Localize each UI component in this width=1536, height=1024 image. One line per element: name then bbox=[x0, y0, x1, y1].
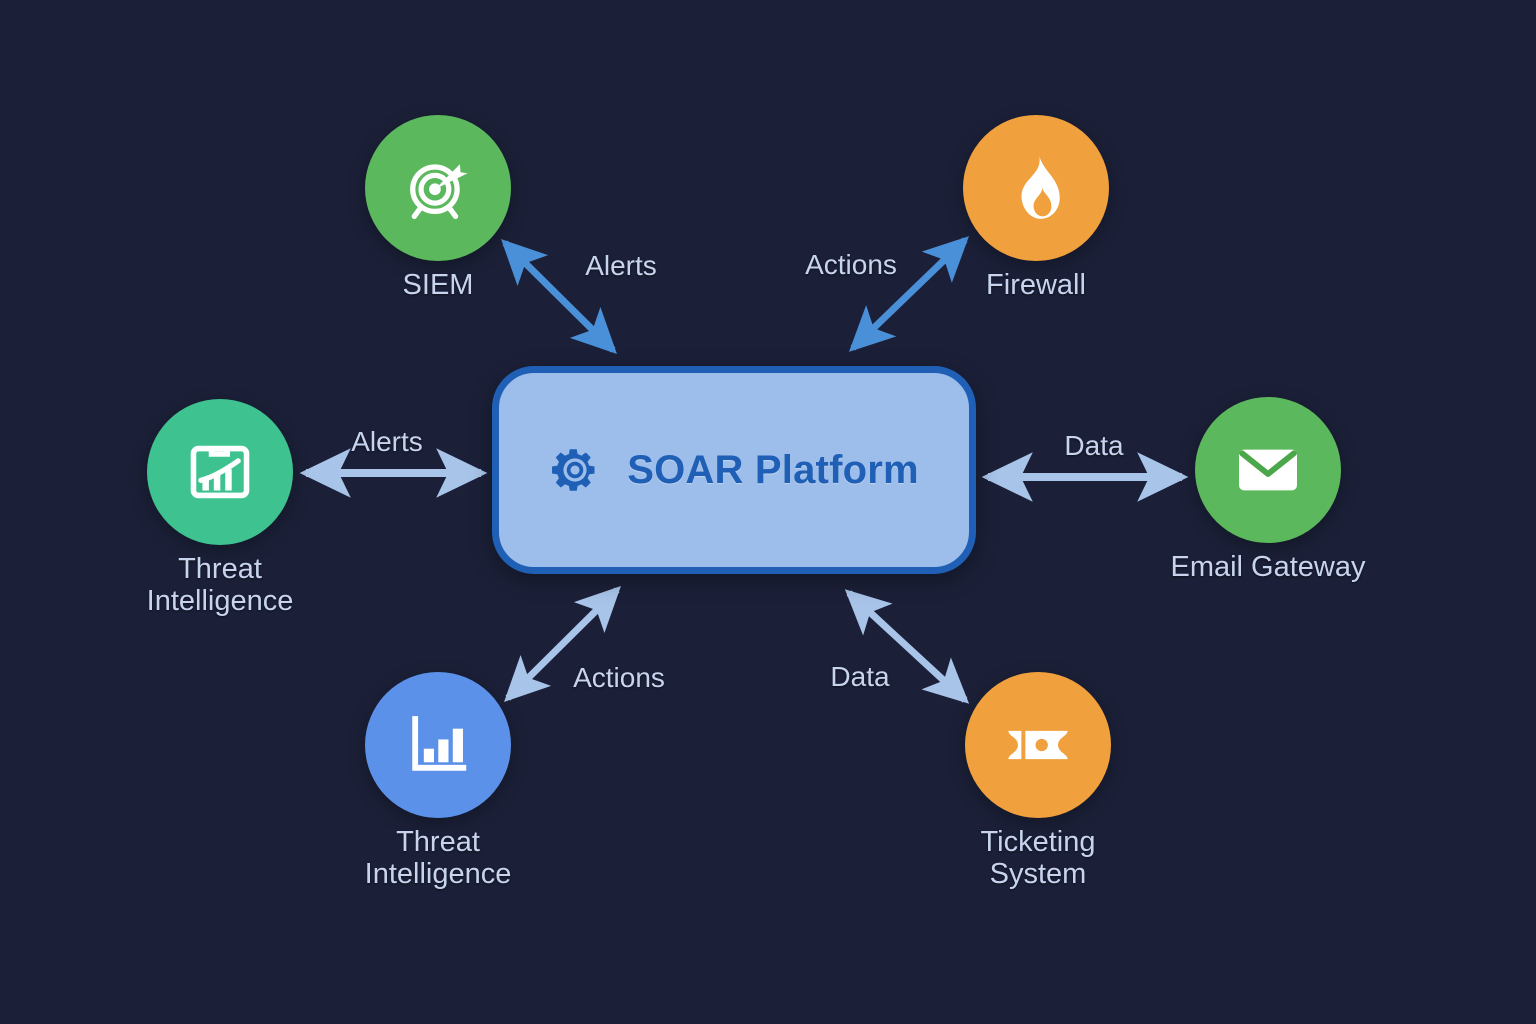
growth-chart-icon bbox=[183, 435, 257, 509]
soar-platform-node[interactable]: SOAR Platform bbox=[492, 366, 976, 574]
node-threat-intelligence-bottom[interactable]: Threat Intelligence bbox=[288, 672, 588, 891]
edge-label-firewall: Actions bbox=[805, 249, 897, 281]
ticket-icon bbox=[1001, 708, 1075, 782]
node-siem-circle[interactable] bbox=[365, 115, 511, 261]
node-threat-intelligence-bottom-label: Threat Intelligence bbox=[365, 826, 512, 891]
node-firewall-label: Firewall bbox=[986, 269, 1086, 301]
node-siem-label: SIEM bbox=[403, 269, 474, 301]
edge-label-siem: Alerts bbox=[585, 250, 657, 282]
node-ticketing-system-label: Ticketing System bbox=[981, 826, 1096, 891]
node-ticketing-system[interactable]: Ticketing System bbox=[888, 672, 1188, 891]
node-threat-intelligence-left-label: Threat Intelligence bbox=[147, 553, 294, 618]
node-ticketing-system-circle[interactable] bbox=[965, 672, 1111, 818]
node-email-gateway[interactable]: Email Gateway bbox=[1118, 397, 1418, 583]
target-arrow-icon bbox=[401, 151, 475, 225]
edge-label-email-gateway: Data bbox=[1064, 430, 1123, 462]
node-firewall[interactable]: Firewall bbox=[886, 115, 1186, 301]
flame-icon bbox=[999, 151, 1073, 225]
gear-icon bbox=[549, 444, 601, 496]
node-threat-intelligence-bottom-circle[interactable] bbox=[365, 672, 511, 818]
soar-platform-label: SOAR Platform bbox=[627, 448, 919, 493]
node-threat-intelligence-left-circle[interactable] bbox=[147, 399, 293, 545]
edge-label-ticketing-system: Data bbox=[830, 661, 889, 693]
bar-chart-icon bbox=[401, 708, 475, 782]
node-firewall-circle[interactable] bbox=[963, 115, 1109, 261]
envelope-icon bbox=[1231, 433, 1305, 507]
node-email-gateway-label: Email Gateway bbox=[1170, 551, 1365, 583]
node-email-gateway-circle[interactable] bbox=[1195, 397, 1341, 543]
diagram-canvas: SOAR Platform SIEM Firew bbox=[0, 0, 1536, 1024]
edge-label-threat-intelligence-left: Alerts bbox=[351, 426, 423, 458]
node-threat-intelligence-left[interactable]: Threat Intelligence bbox=[70, 399, 370, 618]
edge-label-threat-intelligence-bottom: Actions bbox=[573, 662, 665, 694]
node-siem[interactable]: SIEM bbox=[288, 115, 588, 301]
